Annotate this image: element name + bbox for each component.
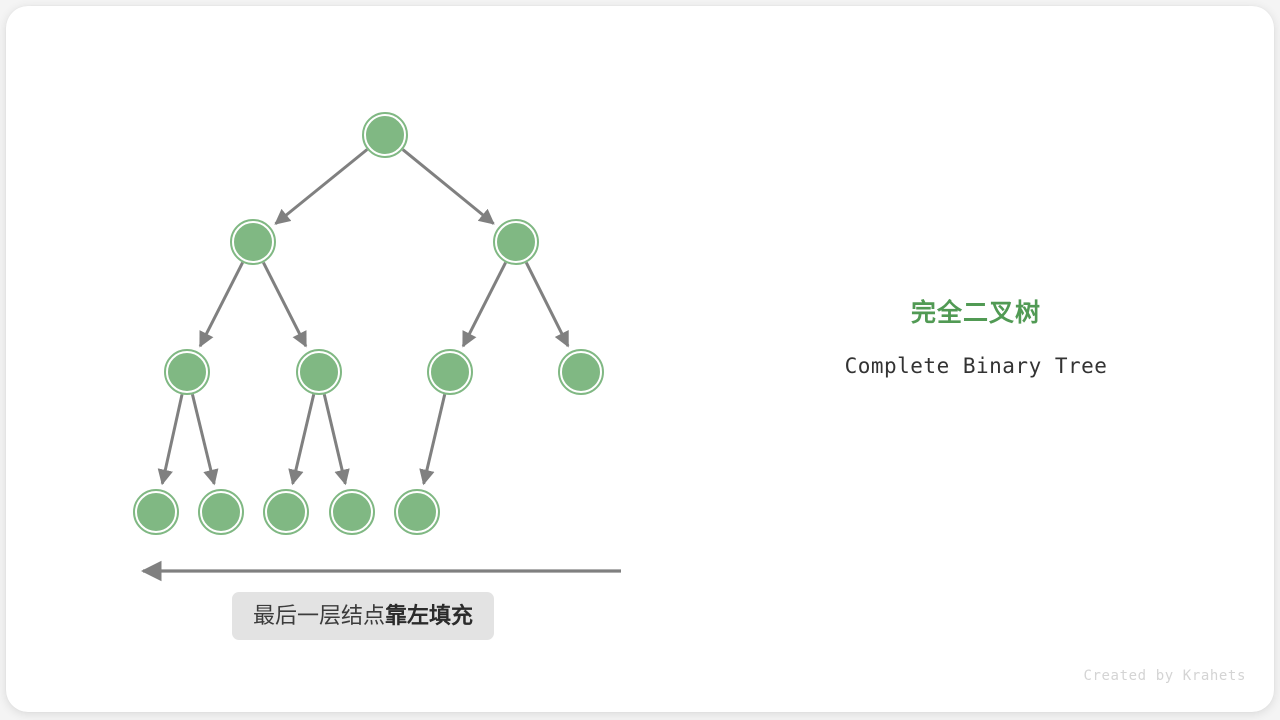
tree-node bbox=[264, 490, 308, 534]
tree-edge bbox=[276, 149, 368, 223]
tree-edge bbox=[463, 263, 505, 347]
tree-node bbox=[363, 113, 407, 157]
tree-node bbox=[165, 350, 209, 394]
tree-node bbox=[231, 220, 275, 264]
tree-edges bbox=[162, 149, 568, 483]
legend-title-cn: 完全二叉树 bbox=[806, 298, 1146, 328]
tree-edge bbox=[526, 263, 568, 346]
caption-text-plain: 最后一层结点 bbox=[253, 603, 385, 628]
node-body bbox=[432, 354, 469, 391]
tree-edge bbox=[424, 394, 445, 483]
node-body bbox=[268, 494, 305, 531]
legend-title-en: Complete Binary Tree bbox=[806, 354, 1146, 379]
tree-node bbox=[559, 350, 603, 394]
node-body bbox=[169, 354, 206, 391]
tree-node bbox=[494, 220, 538, 264]
tree-node bbox=[297, 350, 341, 394]
tree-node bbox=[428, 350, 472, 394]
caption-container: 最后一层结点靠左填充 bbox=[232, 592, 494, 640]
node-body bbox=[301, 354, 338, 391]
tree-node bbox=[134, 490, 178, 534]
node-body bbox=[498, 224, 535, 261]
tree-edge bbox=[263, 263, 305, 347]
content-card: 完全二叉树 Complete Binary Tree 最后一层结点靠左填充 Cr… bbox=[6, 6, 1274, 712]
node-body bbox=[334, 494, 371, 531]
tree-edge bbox=[192, 394, 214, 483]
caption-badge: 最后一层结点靠左填充 bbox=[232, 592, 494, 640]
node-body bbox=[563, 354, 600, 391]
footer-credit: Created by Krahets bbox=[1083, 668, 1246, 684]
tree-node bbox=[199, 490, 243, 534]
node-body bbox=[203, 494, 240, 531]
tree-nodes bbox=[134, 113, 603, 534]
node-body bbox=[399, 494, 436, 531]
tree-edge bbox=[200, 263, 242, 347]
tree-edge bbox=[293, 394, 314, 483]
node-body bbox=[235, 224, 272, 261]
slide-stage: 完全二叉树 Complete Binary Tree 最后一层结点靠左填充 Cr… bbox=[0, 0, 1280, 720]
tree-node bbox=[395, 490, 439, 534]
node-body bbox=[138, 494, 175, 531]
caption-text-bold: 靠左填充 bbox=[385, 603, 473, 628]
tree-edge bbox=[162, 394, 182, 483]
legend-block: 完全二叉树 Complete Binary Tree bbox=[806, 298, 1146, 379]
tree-edge bbox=[403, 150, 494, 224]
node-body bbox=[367, 117, 404, 154]
tree-edge bbox=[324, 394, 345, 483]
tree-node bbox=[330, 490, 374, 534]
